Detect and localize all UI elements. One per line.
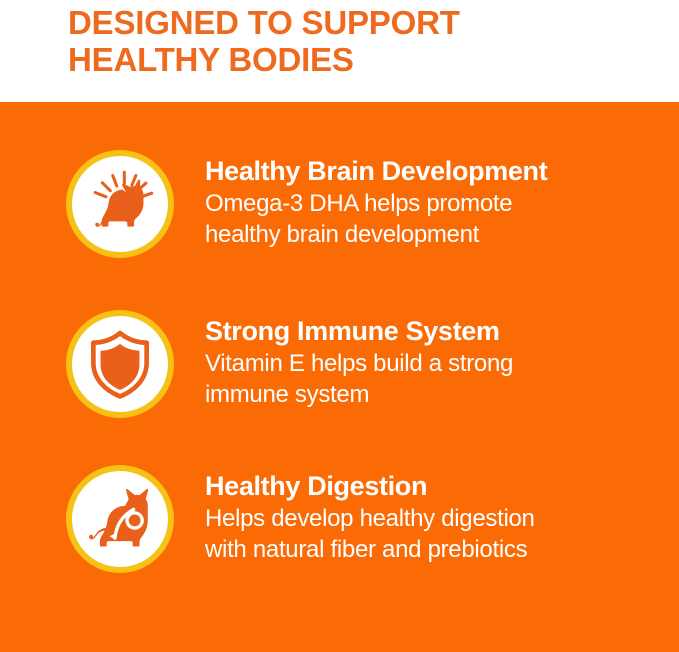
benefit-icon-badge [66,310,174,418]
benefit-icon-badge [66,150,174,258]
benefit-heading: Healthy Digestion [205,471,665,502]
benefit-heading: Healthy Brain Development [205,156,665,187]
benefit-text-block: Healthy Brain Development Omega-3 DHA he… [174,150,679,250]
benefit-description: Helps develop healthy digestion with nat… [205,503,665,565]
benefit-text-block: Healthy Digestion Helps develop healthy … [174,465,679,565]
benefit-item-brain: Healthy Brain Development Omega-3 DHA he… [0,150,679,258]
cat-digestion-icon [84,483,156,555]
product-benefits-poster: DESIGNED TO SUPPORT HEALTHY BODIES [0,0,679,652]
benefit-text-block: Strong Immune System Vitamin E helps bui… [174,310,679,410]
benefit-icon-badge [66,465,174,573]
benefits-panel: Healthy Brain Development Omega-3 DHA he… [0,102,679,652]
benefit-item-immune: Strong Immune System Vitamin E helps bui… [0,310,679,418]
cat-brain-icon [84,168,156,240]
benefit-description: Vitamin E helps build a strong immune sy… [205,348,665,410]
shield-icon [84,328,156,400]
benefit-heading: Strong Immune System [205,316,665,347]
poster-header: DESIGNED TO SUPPORT HEALTHY BODIES [0,0,679,102]
benefit-description: Omega-3 DHA helps promote healthy brain … [205,188,665,250]
page-title: DESIGNED TO SUPPORT HEALTHY BODIES [68,4,659,78]
benefit-item-digestion: Healthy Digestion Helps develop healthy … [0,465,679,573]
